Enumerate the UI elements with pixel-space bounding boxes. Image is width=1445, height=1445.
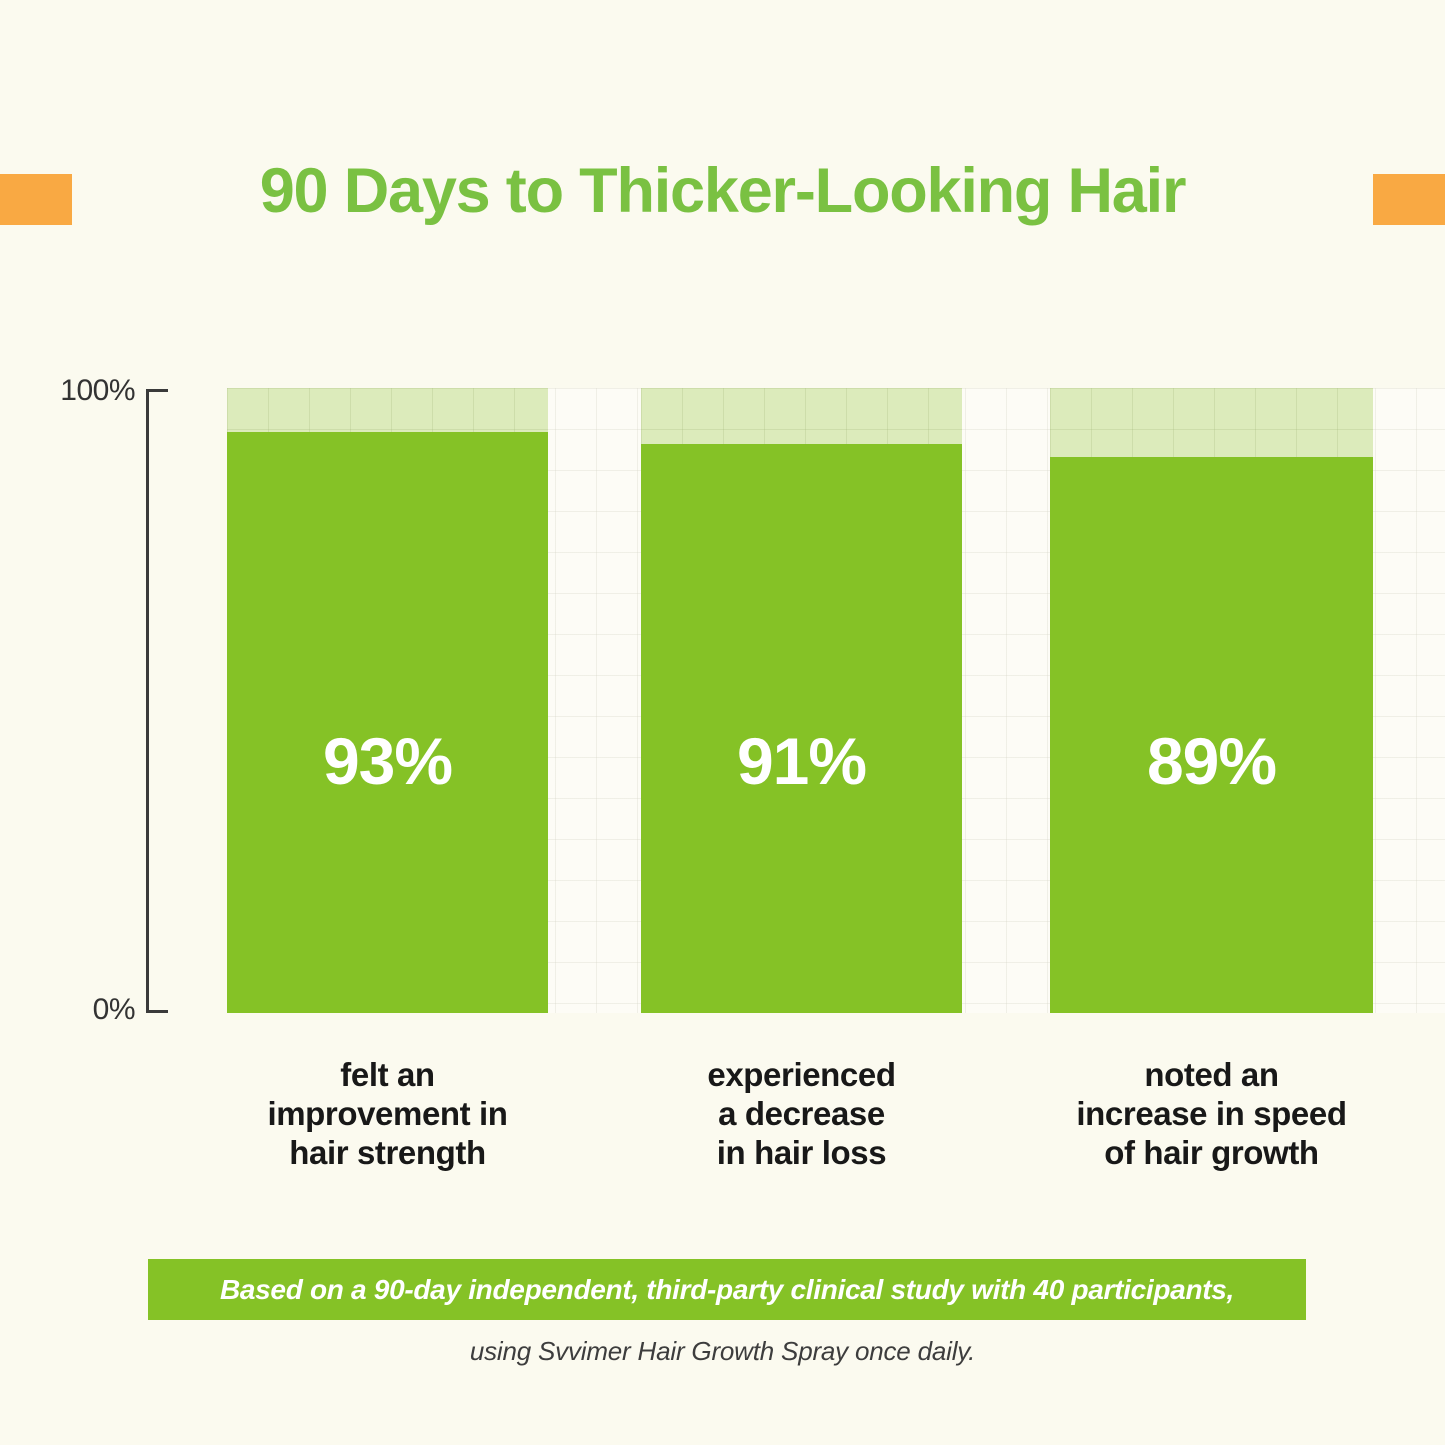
bar-caption-3-line-1: noted an — [1029, 1055, 1394, 1094]
bar-chart: 100% 0% 93% felt an improvement in hair … — [0, 0, 1445, 1445]
bar-caption-2-line-3: in hair loss — [641, 1133, 962, 1172]
bar-caption-2-line-2: a decrease — [641, 1094, 962, 1133]
bar-caption-1-line-1: felt an — [227, 1055, 548, 1094]
bar-value-2: 91% — [641, 723, 962, 799]
bar-caption-3-line-3: of hair growth — [1029, 1133, 1394, 1172]
bar-caption-1: felt an improvement in hair strength — [227, 1055, 548, 1172]
y-axis-label-top: 100% — [60, 374, 135, 408]
bar-value-1: 93% — [227, 723, 548, 799]
y-axis-label-bottom: 0% — [93, 993, 135, 1027]
bar-group-3[interactable]: 89% — [1050, 388, 1373, 1013]
bar-caption-1-line-2: improvement in — [227, 1094, 548, 1133]
footnote-banner-text: Based on a 90-day independent, third-par… — [220, 1274, 1234, 1306]
bar-value-3: 89% — [1050, 723, 1373, 799]
bar-caption-1-line-3: hair strength — [227, 1133, 548, 1172]
bar-caption-3: noted an increase in speed of hair growt… — [1029, 1055, 1394, 1172]
bar-group-1[interactable]: 93% — [227, 388, 548, 1013]
bar-caption-2: experienced a decrease in hair loss — [641, 1055, 962, 1172]
footnote-banner: Based on a 90-day independent, third-par… — [148, 1259, 1306, 1320]
footnote-subtext: using Svvimer Hair Growth Spray once dai… — [0, 1336, 1445, 1367]
bar-caption-3-line-2: increase in speed — [1029, 1094, 1394, 1133]
bar-caption-2-line-1: experienced — [641, 1055, 962, 1094]
y-axis-bracket — [146, 389, 168, 1013]
bar-group-2[interactable]: 91% — [641, 388, 962, 1013]
